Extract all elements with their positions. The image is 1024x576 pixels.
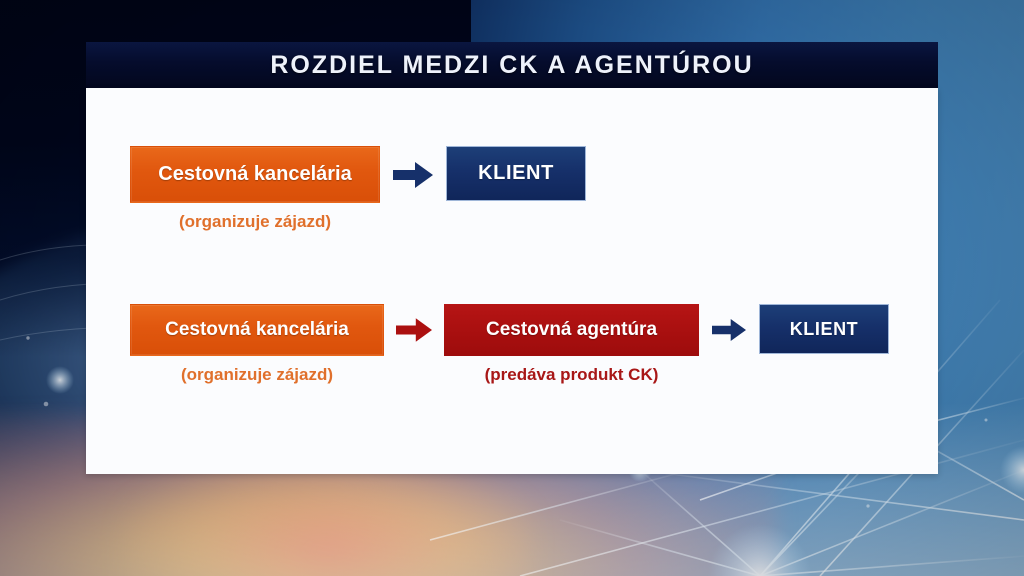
chip-label: KLIENT — [446, 146, 586, 201]
flow-row-agency: Cestovná kancelária (organizuje zájazd) … — [130, 304, 889, 385]
node-caption: (predáva produkt CK) — [485, 365, 659, 385]
chip-label: Cestovná kancelária — [130, 146, 380, 203]
flow-row-direct: Cestovná kancelária (organizuje zájazd) … — [130, 146, 586, 232]
chip-label: Cestovná agentúra — [444, 304, 699, 356]
arrow-right-icon — [380, 146, 446, 203]
node-cestovna-kancelaria-2: Cestovná kancelária (organizuje zájazd) — [130, 304, 384, 385]
node-cestovna-kancelaria-1: Cestovná kancelária (organizuje zájazd) — [130, 146, 380, 232]
arrow-right-icon — [699, 304, 759, 356]
flow-diagram: Cestovná kancelária (organizuje zájazd) … — [86, 88, 938, 474]
content-panel: Cestovná kancelária (organizuje zájazd) … — [86, 88, 938, 474]
page-title: ROZDIEL MEDZI CK A AGENTÚROU — [270, 51, 753, 80]
node-klient-2: KLIENT — [759, 304, 889, 354]
node-cestovna-agentura: Cestovná agentúra (predáva produkt CK) — [444, 304, 699, 385]
node-klient-1: KLIENT — [446, 146, 586, 201]
title-bar: ROZDIEL MEDZI CK A AGENTÚROU — [86, 42, 938, 88]
node-caption: (organizuje zájazd) — [179, 212, 331, 232]
chip-label: KLIENT — [759, 304, 889, 354]
node-caption: (organizuje zájazd) — [181, 365, 333, 385]
chip-label: Cestovná kancelária — [130, 304, 384, 356]
broadcast-graphic: ROZDIEL MEDZI CK A AGENTÚROU Cestovná ka… — [0, 0, 1024, 576]
arrow-right-icon — [384, 304, 444, 356]
